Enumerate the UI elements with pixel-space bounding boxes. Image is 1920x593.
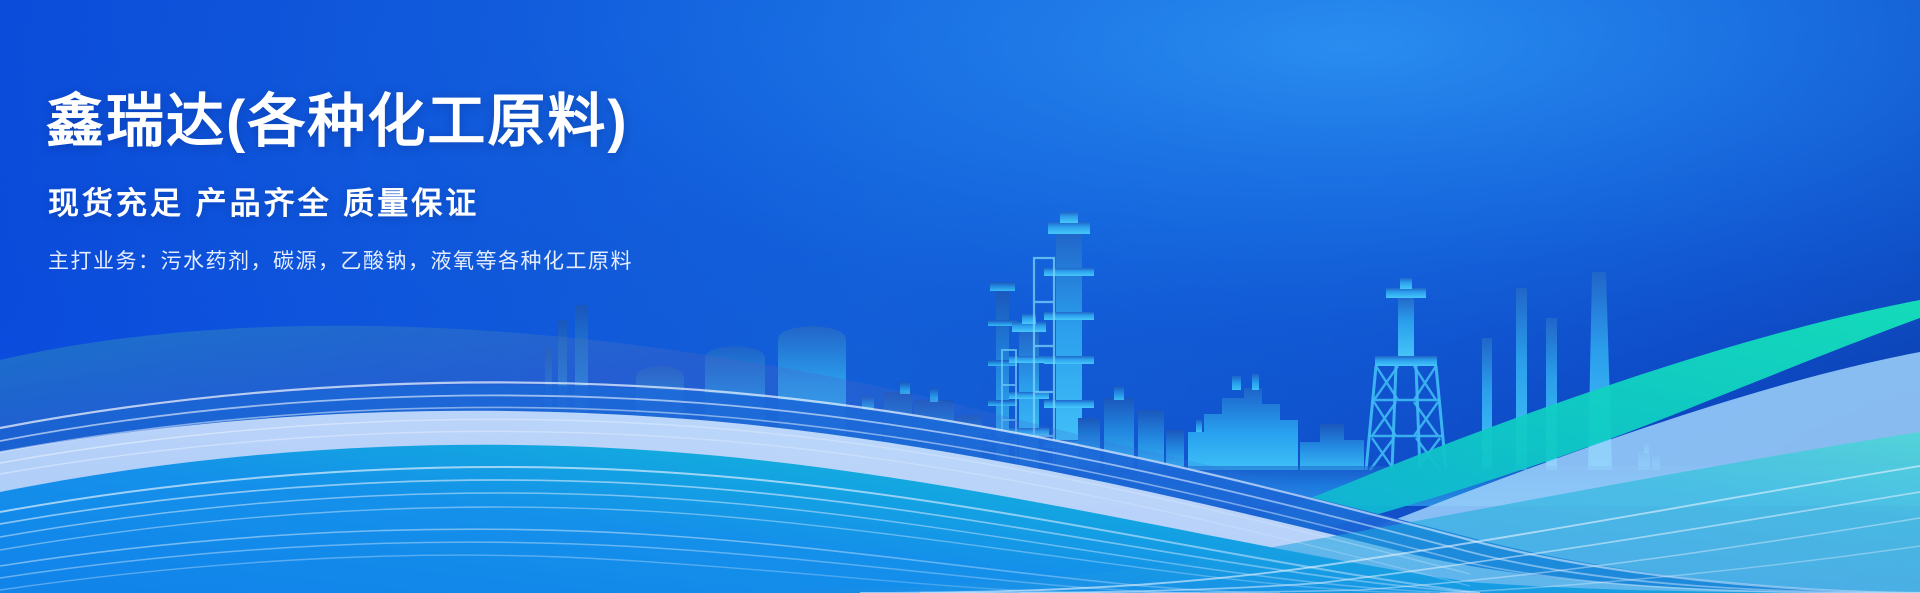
banner-headline: 鑫瑞达(各种化工原料) [46, 92, 633, 152]
banner-copy: 鑫瑞达(各种化工原料) 现货充足 产品齐全 质量保证 主打业务：污水药剂，碳源，… [46, 92, 633, 275]
banner-subheadline: 现货充足 产品齐全 质量保证 [48, 178, 633, 223]
banner-tagline: 主打业务：污水药剂，碳源，乙酸钠，液氧等各种化工原料 [48, 245, 633, 275]
promo-banner: 鑫瑞达(各种化工原料) 现货充足 产品齐全 质量保证 主打业务：污水药剂，碳源，… [0, 0, 1920, 593]
